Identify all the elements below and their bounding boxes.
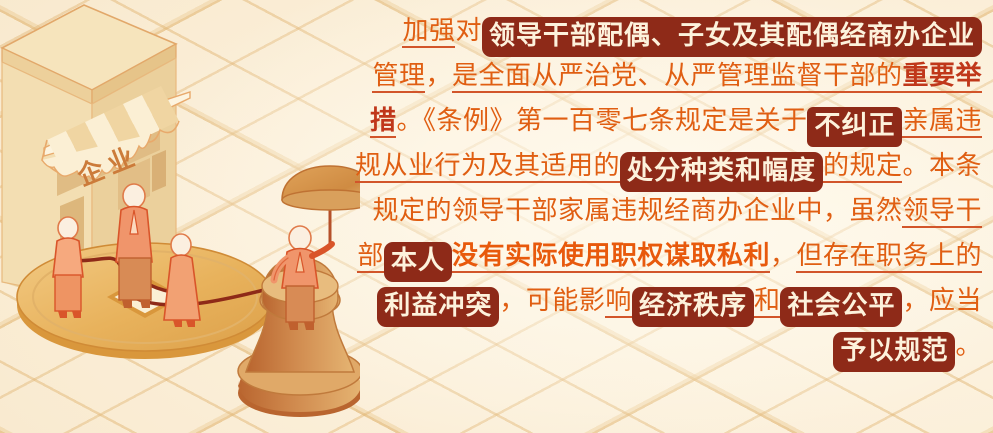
highlight-badge: 处分种类和幅度	[620, 152, 823, 192]
illustration-enterprise-scene: 企 业	[0, 0, 360, 433]
seg-bold-underline: 措	[370, 106, 397, 138]
seg-plain: 规定的领导干部家属违规经商办企业中，虽然	[372, 196, 902, 225]
seg-underline: 但存在职务上的	[796, 241, 982, 273]
seg-plain: 。	[955, 331, 982, 360]
seg-plain: 对	[455, 16, 482, 45]
seg-underline: 规从业行为及其适用的	[355, 151, 620, 183]
highlight-badge: 社会公平	[780, 287, 902, 327]
highlight-badge: 不纠正	[807, 107, 902, 147]
text-line-6: 部本人没有实际使用职权谋取私利，但存在职务上的	[352, 233, 982, 278]
highlight-badge: 利益冲突	[377, 287, 499, 327]
seg-underline: 加强	[402, 16, 455, 48]
text-line-1: 加强对领导干部配偶、子女及其配偶经商办企业	[352, 8, 982, 53]
highlight-badge: 本人	[384, 242, 452, 282]
seg-bold-underline: 重要举	[902, 61, 982, 93]
seg-underline: 和	[754, 286, 781, 318]
seg-underline: 的规定	[823, 151, 903, 183]
seg-plain: ，	[770, 241, 797, 270]
seg-underline: 亲属违	[902, 106, 982, 138]
highlight-badge: 予以规范	[833, 332, 955, 372]
article-text-block: 加强对领导干部配偶、子女及其配偶经商办企业 管理，是全面从严治党、从严管理监督干…	[352, 8, 982, 428]
seg-plain: ，可能影	[499, 286, 605, 315]
infographic-canvas: 企 业	[0, 0, 993, 433]
seg-plain: ，应当	[902, 286, 982, 315]
seg-plain: 。《条例》第一百零七条规定是关于	[396, 106, 807, 135]
text-line-7: 利益冲突，可能影响经济秩序和社会公平，应当	[352, 278, 982, 323]
text-line-8: 予以规范。	[352, 323, 982, 368]
highlight-badge: 经济秩序	[632, 287, 754, 327]
seg-plain: 。本条	[902, 151, 982, 180]
seg-underline: 响	[605, 286, 632, 318]
seg-orange-bold-underline: 没有实际使用职权谋取私利	[452, 241, 770, 273]
seg-plain: ，	[425, 61, 452, 90]
seg-underline: 是全面从严治党、从严管理监督干部的	[452, 61, 903, 93]
highlight-badge: 领导干部配偶、子女及其配偶经商办企业	[482, 17, 982, 57]
text-line-2: 管理，是全面从严治党、从严管理监督干部的重要举	[352, 53, 982, 98]
seg-underline: 领导干	[902, 196, 982, 228]
text-line-5: 规定的领导干部家属违规经商办企业中，虽然领导干	[352, 188, 982, 233]
text-line-4: 规从业行为及其适用的处分种类和幅度的规定。本条	[352, 143, 982, 188]
seg-underline: 管理	[372, 61, 425, 93]
seg-underline: 部	[357, 241, 384, 273]
text-line-3: 措。《条例》第一百零七条规定是关于不纠正亲属违	[352, 98, 982, 143]
